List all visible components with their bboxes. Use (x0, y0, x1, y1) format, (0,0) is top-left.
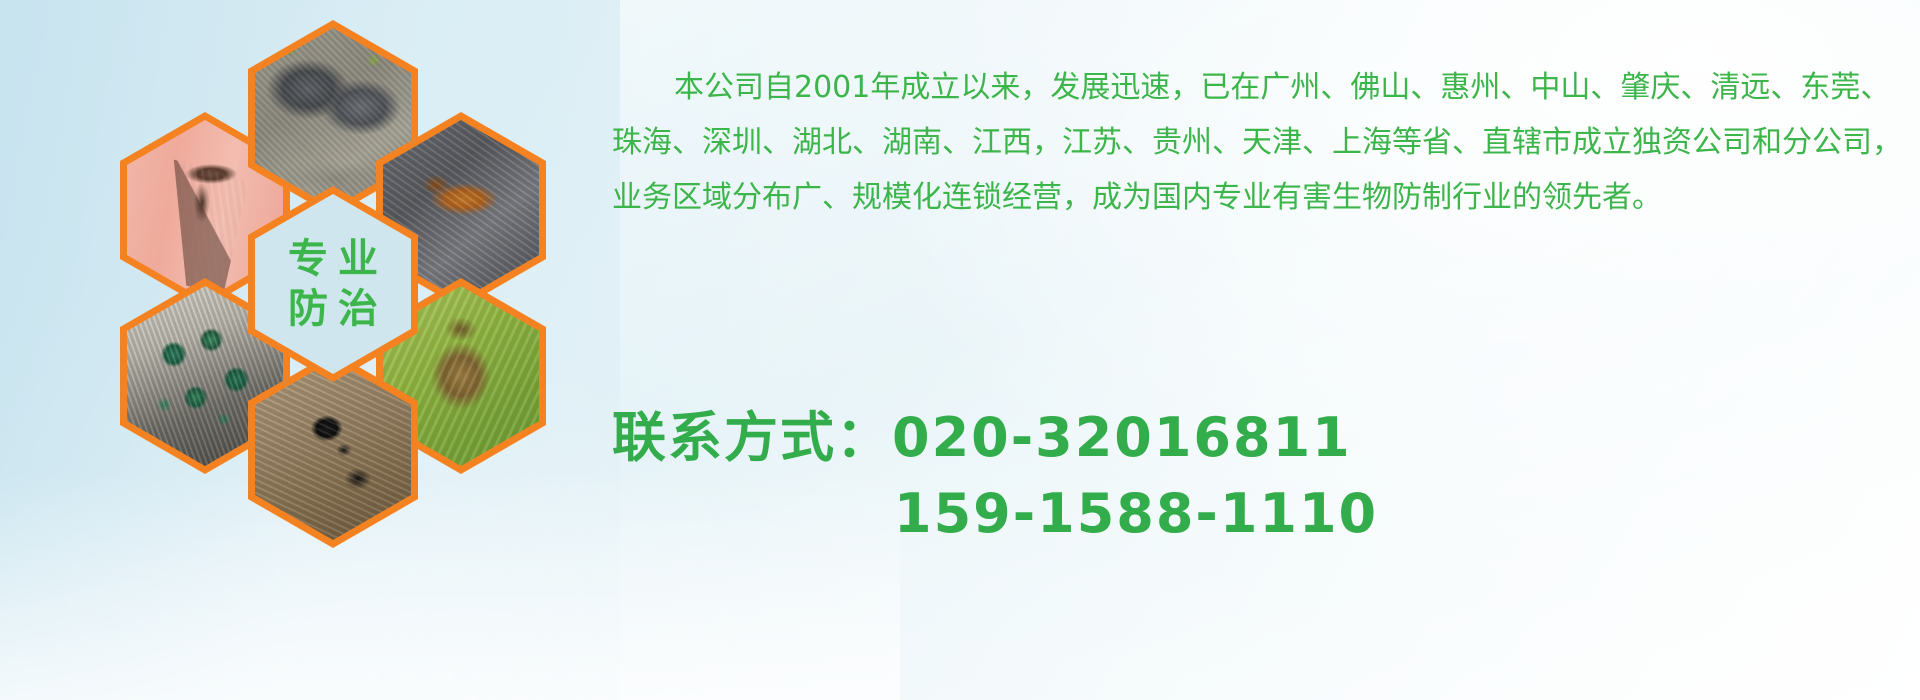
hex-inner-slogan: 专业 防治 (255, 194, 411, 374)
company-description-text: 本公司自2001年成立以来，发展迅速，已在广州、佛山、惠州、中山、肇庆、清远、东… (612, 60, 1904, 225)
contact-primary-line: 联系方式：020-32016811 (612, 400, 1912, 476)
company-description-block: 本公司自2001年成立以来，发展迅速，已在广州、佛山、惠州、中山、肇庆、清远、东… (612, 30, 1912, 255)
promo-banner: 专业 防治 本公司自2001年成立以来，发展迅速，已在广州、佛山、惠州、中山、肇… (0, 0, 1920, 700)
contact-phone-primary[interactable]: 020-32016811 (892, 406, 1352, 469)
contact-label: 联系方式： (612, 406, 892, 469)
contact-block: 联系方式：020-32016811 159-1588-1110 (612, 400, 1912, 552)
hex-inner-ant (255, 360, 411, 540)
ant-icon (255, 360, 411, 540)
honeycomb-logo: 专业 防治 (80, 0, 600, 560)
slogan-text: 专业 防治 (255, 194, 411, 374)
contact-secondary-line: 159-1588-1110 (612, 476, 1912, 552)
slogan-line-1: 专业 (278, 239, 388, 279)
slogan-line-2: 防治 (278, 289, 388, 329)
contact-phone-secondary[interactable]: 159-1588-1110 (894, 482, 1378, 545)
